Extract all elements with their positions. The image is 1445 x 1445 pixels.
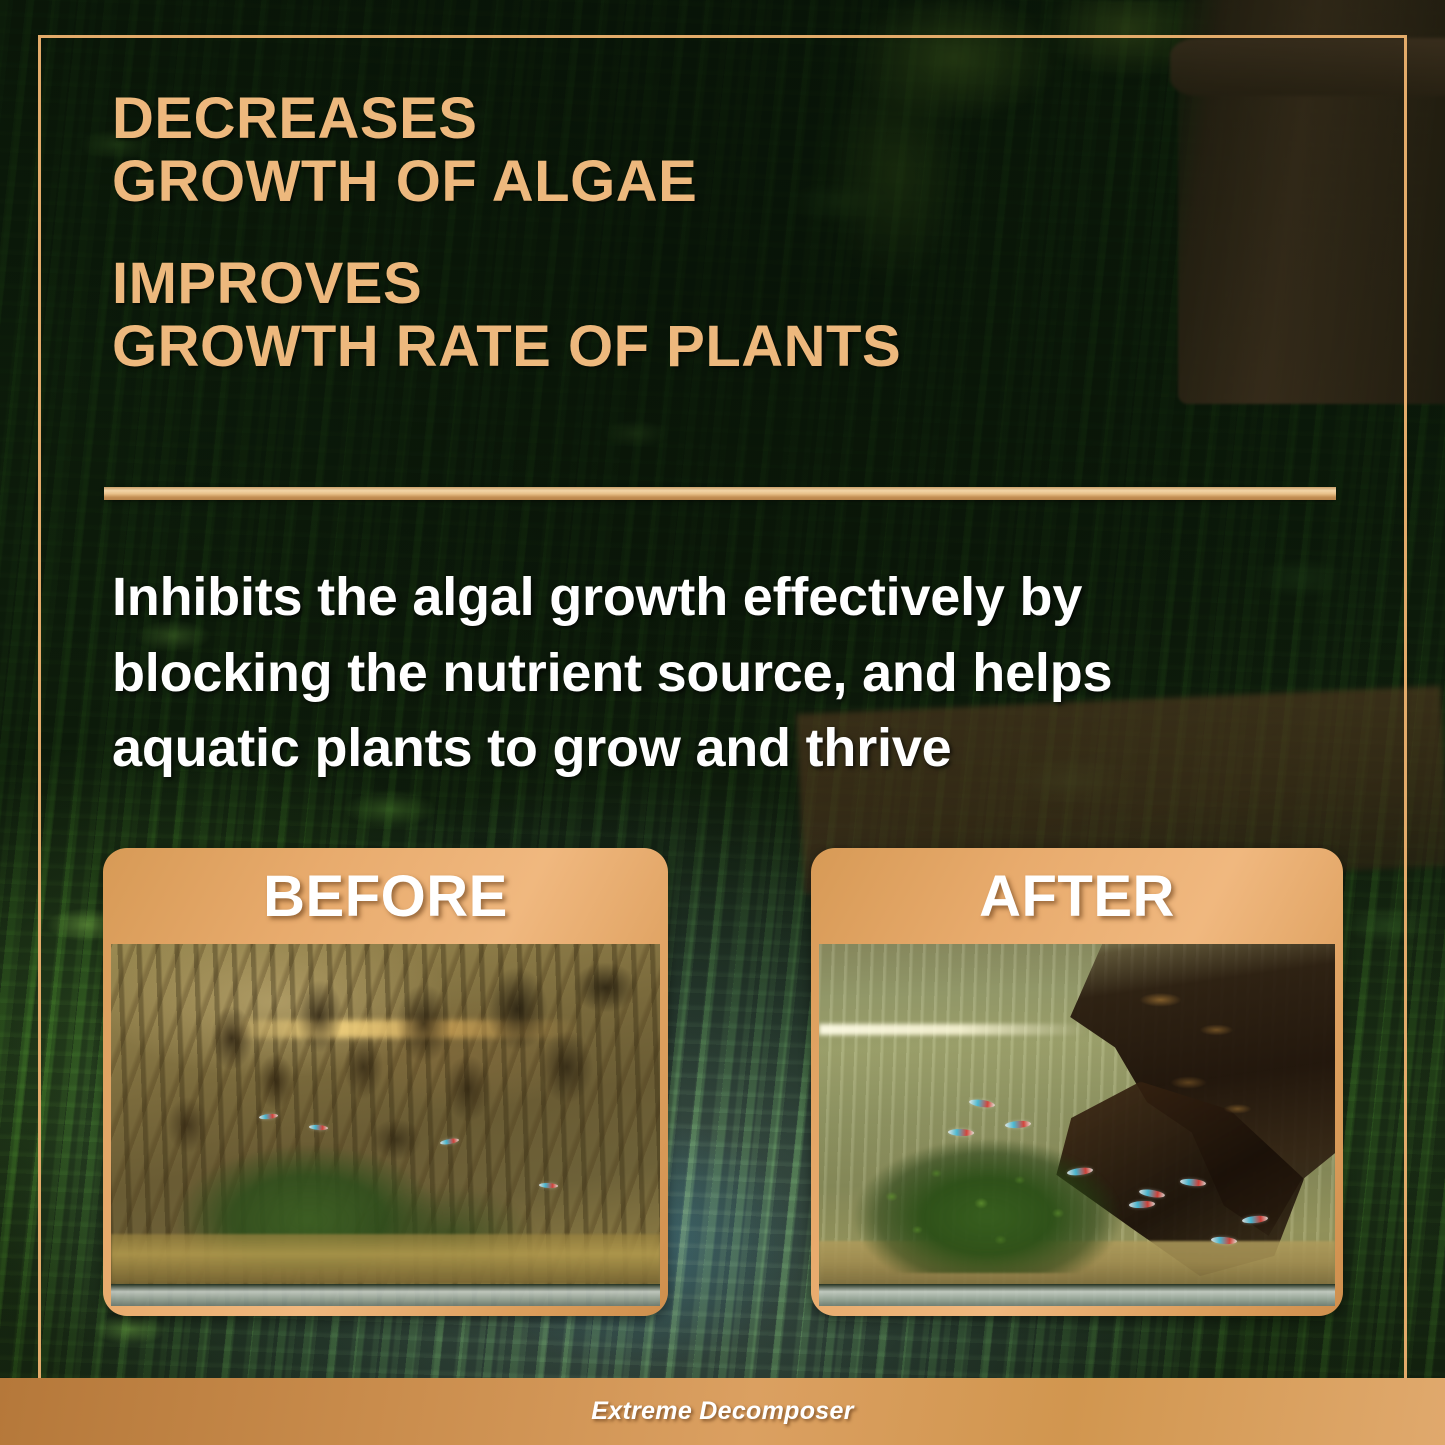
before-after-comparison: BEFORE AFTER bbox=[0, 848, 1445, 1318]
before-panel-label: BEFORE bbox=[103, 848, 668, 944]
description-line-3: aquatic plants to grow and thrive bbox=[112, 711, 1292, 787]
after-photo-fish bbox=[948, 1128, 974, 1136]
footer-bar: Extreme Decomposer bbox=[0, 1378, 1445, 1445]
before-panel: BEFORE bbox=[103, 848, 668, 1316]
before-photo-tank-rim bbox=[111, 1284, 660, 1306]
product-name: Extreme Decomposer bbox=[591, 1397, 853, 1426]
gold-divider-icon bbox=[104, 487, 1336, 500]
after-photo-light-bar bbox=[819, 1024, 1087, 1035]
description-line-2: blocking the nutrient source, and helps bbox=[112, 636, 1292, 712]
product-feature-poster: DECREASESGROWTH OF ALGAE IMPROVESGROWTH … bbox=[0, 0, 1445, 1445]
headline-primary: DECREASESGROWTH OF ALGAE bbox=[112, 88, 1292, 213]
before-photo bbox=[111, 944, 660, 1306]
headline-line-4: GROWTH RATE OF PLANTS bbox=[112, 314, 901, 379]
before-photo-substrate bbox=[111, 1234, 660, 1285]
description-line-1: Inhibits the algal growth effectively by bbox=[112, 560, 1292, 636]
description-paragraph: Inhibits the algal growth effectively by… bbox=[112, 560, 1292, 787]
headline-line-1: DECREASES bbox=[112, 86, 477, 151]
after-photo bbox=[819, 944, 1335, 1306]
after-panel: AFTER bbox=[811, 848, 1343, 1316]
after-photo-tank-rim bbox=[819, 1284, 1335, 1306]
headline-line-2: GROWTH OF ALGAE bbox=[112, 149, 697, 214]
headline-line-3: IMPROVES bbox=[112, 251, 422, 316]
after-panel-label: AFTER bbox=[811, 848, 1343, 944]
headline-secondary: IMPROVESGROWTH RATE OF PLANTS bbox=[112, 253, 1292, 378]
after-photo-moss-texture bbox=[834, 1107, 1154, 1274]
headline-block: DECREASESGROWTH OF ALGAE IMPROVESGROWTH … bbox=[112, 88, 1292, 379]
